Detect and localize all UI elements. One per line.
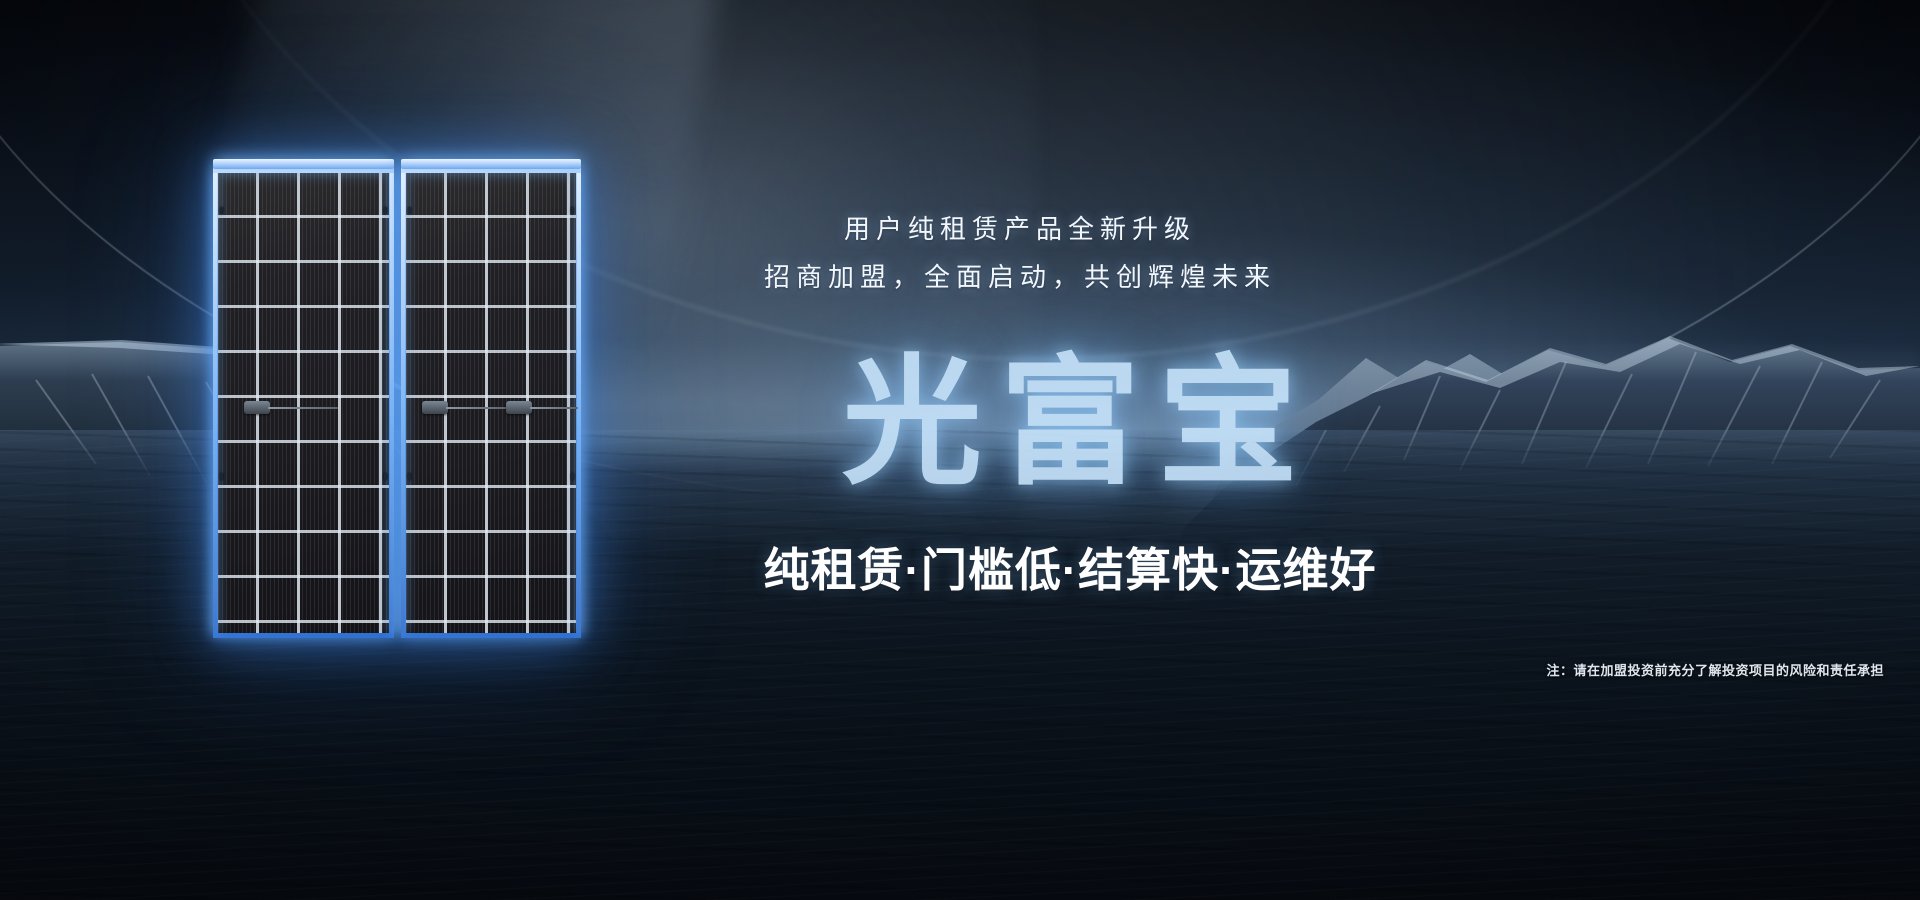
promo-banner: 用户纯租赁产品全新升级 招商加盟，全面启动，共创辉煌未来 光富宝 纯租赁·门槛低… bbox=[0, 0, 1920, 900]
headline-line-1: 用户纯租赁产品全新升级 bbox=[640, 205, 1400, 253]
headline-line-2: 招商加盟，全面启动，共创辉煌未来 bbox=[640, 253, 1400, 301]
brand-logo-text: 光富宝 bbox=[690, 348, 1450, 498]
disclaimer-footnote: 注：请在加盟投资前充分了解投资项目的风险和责任承担 bbox=[1546, 662, 1884, 680]
tagline-text: 纯租赁·门槛低·结算快·运维好 bbox=[620, 540, 1520, 600]
banner-copy: 用户纯租赁产品全新升级 招商加盟，全面启动，共创辉煌未来 光富宝 纯租赁·门槛低… bbox=[0, 0, 1920, 900]
headline-block: 用户纯租赁产品全新升级 招商加盟，全面启动，共创辉煌未来 bbox=[640, 205, 1400, 301]
